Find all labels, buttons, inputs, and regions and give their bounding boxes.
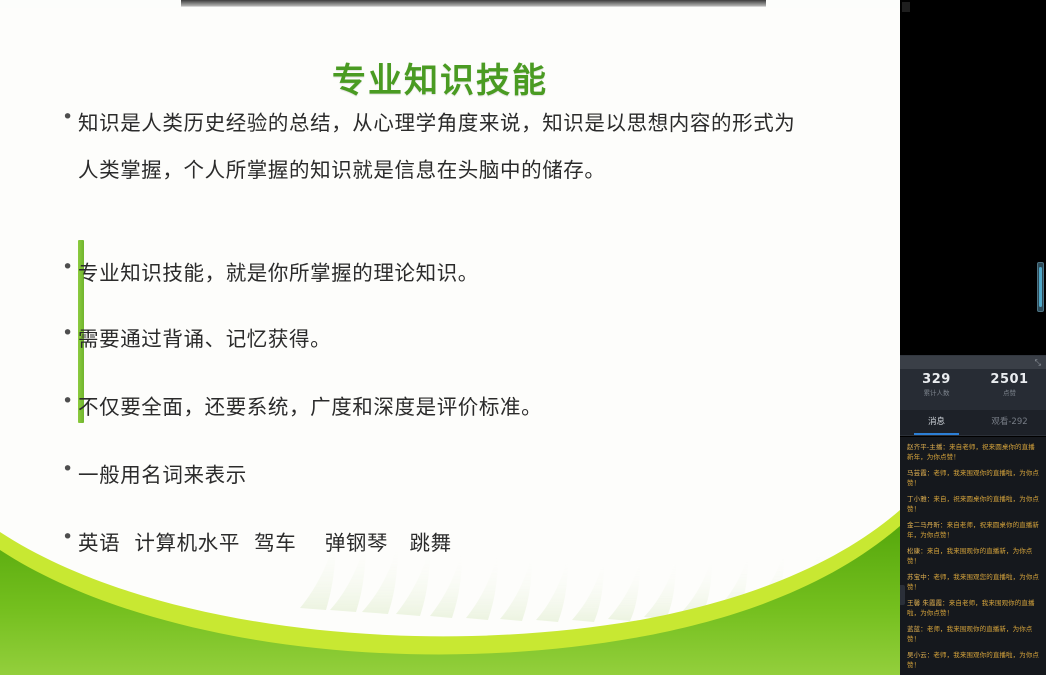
video-player-area[interactable]: [900, 0, 1046, 355]
chat-scroll-handle[interactable]: [900, 585, 905, 605]
minimize-icon[interactable]: ⤡: [1035, 358, 1041, 367]
slide-content: 专业知识技能 • 知识是人类历史经验的总结，从心理学角度来说，知识是以思想内容的…: [0, 8, 900, 675]
bullet-marker: •: [62, 316, 78, 350]
chat-username: 吴小云: [907, 651, 927, 659]
slide-footer-wave: [0, 490, 900, 675]
chat-username: 赵齐平-主播: [907, 443, 942, 451]
chat-username: 马芸霞: [907, 469, 927, 477]
app-root: 专业知识技能 • 知识是人类历史经验的总结，从心理学角度来说，知识是以思想内容的…: [0, 0, 1046, 675]
video-corner-marker: [902, 2, 910, 12]
bullet-text: 不仅要全面，还要系统，广度和深度是评价标准。: [78, 384, 542, 430]
bullet-text: 专业知识技能，就是你所掌握的理论知识。: [78, 250, 479, 296]
chat-message: 吴小云：老师，我来围观你的直播啦，为你点赞！: [907, 650, 1040, 670]
chat-username: 金二马丹昕: [907, 521, 940, 529]
stat-value: 329: [900, 372, 973, 388]
bullet-text: 知识是人类历史经验的总结，从心理学角度来说，知识是以思想内容的形式为人类掌握，个…: [78, 100, 803, 194]
tab-viewers[interactable]: 观看-292: [973, 410, 1046, 435]
bullet-marker: •: [62, 100, 78, 134]
tab-messages[interactable]: 消息: [900, 410, 973, 435]
stats-title-bar: ⤡: [900, 356, 1046, 369]
bullet-item: • 需要通过背诵、记忆获得。: [62, 316, 331, 362]
stat-value: 2501: [973, 372, 1046, 388]
slide-title: 专业知识技能: [0, 53, 880, 102]
video-scrollbar-thumb[interactable]: [1039, 267, 1042, 307]
chat-message: 苏宝中：老师，我来围观您的直播啦，为你点赞！: [907, 572, 1040, 592]
chat-message: 丁小雅：来自，祝来圆桌你的直播啦，为你点赞！: [907, 494, 1040, 514]
chat-username: 苏宝中: [907, 573, 927, 581]
live-stream-panel: ⤡ 329 累计人数 2501 点赞 消息 观看-292 赵齐平-主播：来自老师…: [900, 0, 1046, 675]
stats-row: 329 累计人数 2501 点赞: [900, 369, 1046, 411]
bullet-text: 需要通过背诵、记忆获得。: [78, 316, 331, 362]
stat-likes: 2501 点赞: [973, 369, 1046, 411]
chat-sep: ：: [920, 625, 927, 633]
chat-message: 松康：来自，我来围观你的直播新，为你点赞！: [907, 546, 1040, 566]
chat-message: 赵齐平-主播：来自老师，祝来圆桌你的直播新年，为你点赞！: [907, 442, 1040, 462]
stat-cumulative-viewers: 329 累计人数: [900, 369, 973, 411]
chat-sep: ：: [942, 599, 949, 607]
bullet-marker: •: [62, 384, 78, 418]
chat-username: 蓝蓝: [907, 625, 920, 633]
chat-message: 王馨 朱霞霞：来自老师，我来围观你的直播啦，为你点赞！: [907, 598, 1040, 618]
chat-username: 王馨 朱霞霞: [907, 599, 942, 607]
bullet-marker: •: [62, 250, 78, 284]
bullet-item: • 专业知识技能，就是你所掌握的理论知识。: [62, 250, 479, 296]
chat-message: 金二马丹昕：来自老师，祝来圆桌你的直播新年，为你点赞！: [907, 520, 1040, 540]
stat-label: 点赞: [976, 388, 1043, 398]
stats-panel: ⤡ 329 累计人数 2501 点赞: [900, 355, 1046, 410]
video-scrollbar[interactable]: [1037, 262, 1044, 312]
chat-sep: ：: [940, 521, 947, 529]
chat-message: 蓝蓝：老师，我来围观你的直播新，为你点赞！: [907, 624, 1040, 644]
chat-message-list[interactable]: 赵齐平-主播：来自老师，祝来圆桌你的直播新年，为你点赞！ 马芸霞：老师，我来围观…: [900, 437, 1046, 675]
window-top-strip: [181, 0, 766, 7]
presentation-slide: 专业知识技能 • 知识是人类历史经验的总结，从心理学角度来说，知识是以思想内容的…: [0, 0, 900, 675]
chat-sep: ：: [920, 547, 927, 555]
bullet-item: • 知识是人类历史经验的总结，从心理学角度来说，知识是以思想内容的形式为人类掌握…: [62, 100, 803, 194]
bullet-item: • 不仅要全面，还要系统，广度和深度是评价标准。: [62, 384, 542, 430]
chat-username: 松康: [907, 547, 920, 555]
chat-username: 丁小雅: [907, 495, 927, 503]
panel-tabs: 消息 观看-292: [900, 410, 1046, 436]
bullet-marker: •: [62, 452, 78, 486]
chat-message: 马芸霞：老师，我来围观你的直播啦，为你点赞！: [907, 468, 1040, 488]
stat-label: 累计人数: [903, 388, 970, 398]
